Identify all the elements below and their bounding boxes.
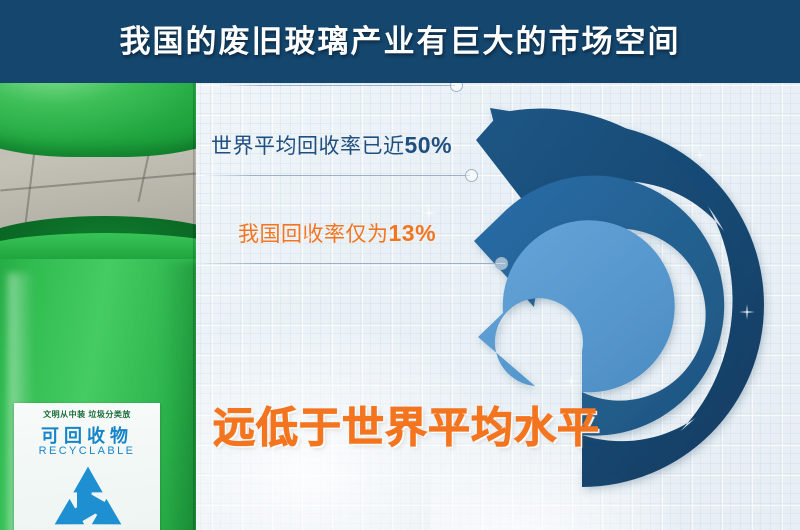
stat-label-china: 我国回收率仅为13% [238, 218, 436, 248]
bin-lid [0, 83, 196, 157]
connector-dot-world [465, 169, 478, 182]
headline-conclusion: 远低于世界平均水平 [213, 394, 600, 455]
arc-chart-svg [430, 83, 800, 530]
green-recycling-bin-photo: 文明从中装 垃圾分类放 可回收物 RECYCLABLE [0, 83, 196, 530]
connector-line-world [205, 175, 470, 176]
stat-text-world: 世界平均回收率已近 [211, 135, 405, 158]
bin-shadow [160, 263, 196, 530]
connector-line-china [205, 263, 505, 264]
stat-value-china: 13% [389, 220, 437, 246]
header-bar: 我国的废旧玻璃产业有巨大的市场空间 [0, 0, 800, 83]
sticker-category-en: RECYCLABLE [14, 445, 160, 457]
recycling-label-sticker: 文明从中装 垃圾分类放 可回收物 RECYCLABLE [14, 403, 160, 530]
recycle-triangle-icon [42, 463, 134, 530]
nested-arc-chart [430, 83, 800, 530]
sticker-slogan: 文明从中装 垃圾分类放 [14, 409, 160, 420]
bin-lid-seam [0, 83, 196, 85]
page-title: 我国的废旧玻璃产业有巨大的市场空间 [0, 22, 800, 62]
stat-label-world: 世界平均回收率已近50% [211, 130, 452, 160]
stat-value-world: 50% [405, 132, 453, 158]
connector-line-germany [220, 85, 455, 86]
photo-divider [193, 83, 196, 530]
connector-dot-china [495, 257, 508, 270]
stat-text-china: 我国回收率仅为 [238, 223, 389, 246]
infographic-canvas: 文明从中装 垃圾分类放 可回收物 RECYCLABLE [0, 0, 800, 530]
